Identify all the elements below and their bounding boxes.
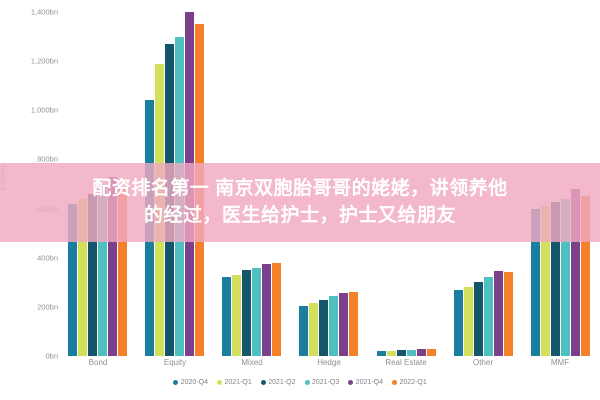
x-tick-label: Hedge (299, 358, 359, 367)
legend-label: 2021-Q4 (356, 379, 383, 386)
legend-label: 2022-Q1 (400, 379, 427, 386)
bar[interactable] (484, 277, 493, 356)
bar[interactable] (397, 350, 406, 356)
legend-label: 2021-Q1 (225, 379, 252, 386)
bar[interactable] (454, 290, 463, 356)
x-tick-label: MMF (530, 358, 590, 367)
gridline: 0bn (64, 356, 594, 357)
overlay-text-line-2: 的经过，医生给护士，护士又给朋友 (144, 204, 456, 228)
promo-overlay-banner: 配资排名第一 南京双胞胎哥哥的姥姥，讲领养他 的经过，医生给护士，护士又给朋友 (0, 163, 600, 242)
bar[interactable] (504, 272, 513, 356)
bar[interactable] (464, 287, 473, 356)
bar[interactable] (299, 306, 308, 356)
bar[interactable] (474, 282, 483, 356)
bar[interactable] (319, 300, 328, 357)
bar[interactable] (427, 349, 436, 356)
x-tick-label: Real Estate (376, 358, 436, 367)
legend-color-swatch (348, 380, 353, 385)
chart-legend: 2020-Q42021-Q12021-Q22021-Q32021-Q42022-… (0, 379, 600, 386)
x-axis-category-labels: BondEquityMixedHedgeReal EstateOtherMMF (64, 358, 594, 367)
bar[interactable] (252, 268, 261, 356)
y-tick-label: 1,000bn (31, 106, 58, 115)
legend-label: 2020-Q4 (181, 379, 208, 386)
x-tick-label: Other (453, 358, 513, 367)
bar[interactable] (222, 277, 231, 356)
x-tick-label: Bond (68, 358, 128, 367)
bar[interactable] (407, 350, 416, 356)
bar[interactable] (349, 292, 358, 356)
overlay-text-line-1: 配资排名第一 南京双胞胎哥哥的姥姥，讲领养他 (92, 177, 507, 201)
bar[interactable] (494, 271, 503, 356)
legend-color-swatch (261, 380, 266, 385)
chart-root: € billions 0bn200bn400bn600bn800bn1,000b… (0, 0, 600, 400)
bar[interactable] (232, 275, 241, 356)
legend-label: 2021-Q3 (312, 379, 339, 386)
bar[interactable] (309, 303, 318, 356)
bar[interactable] (272, 263, 281, 356)
legend-item[interactable]: 2021-Q2 (261, 379, 296, 386)
y-tick-label: 1,200bn (31, 57, 58, 66)
legend-item[interactable]: 2021-Q3 (305, 379, 340, 386)
bar[interactable] (262, 264, 271, 356)
legend-item[interactable]: 2020-Q4 (173, 379, 208, 386)
y-tick-label: 1,400bn (31, 8, 58, 17)
y-tick-label: 400bn (37, 253, 58, 262)
legend-color-swatch (217, 380, 222, 385)
x-tick-label: Equity (145, 358, 205, 367)
bar[interactable] (417, 349, 426, 356)
legend-item[interactable]: 2021-Q4 (348, 379, 383, 386)
bar[interactable] (329, 296, 338, 356)
legend-color-swatch (392, 380, 397, 385)
legend-item[interactable]: 2022-Q1 (392, 379, 427, 386)
legend-label: 2021-Q2 (268, 379, 295, 386)
legend-item[interactable]: 2021-Q1 (217, 379, 252, 386)
bar[interactable] (242, 270, 251, 356)
legend-color-swatch (173, 380, 178, 385)
legend-color-swatch (305, 380, 310, 385)
y-tick-label: 0bn (45, 352, 58, 361)
x-tick-label: Mixed (222, 358, 282, 367)
bar[interactable] (339, 293, 348, 356)
y-tick-label: 200bn (37, 302, 58, 311)
bar[interactable] (377, 351, 386, 356)
bar[interactable] (387, 351, 396, 356)
